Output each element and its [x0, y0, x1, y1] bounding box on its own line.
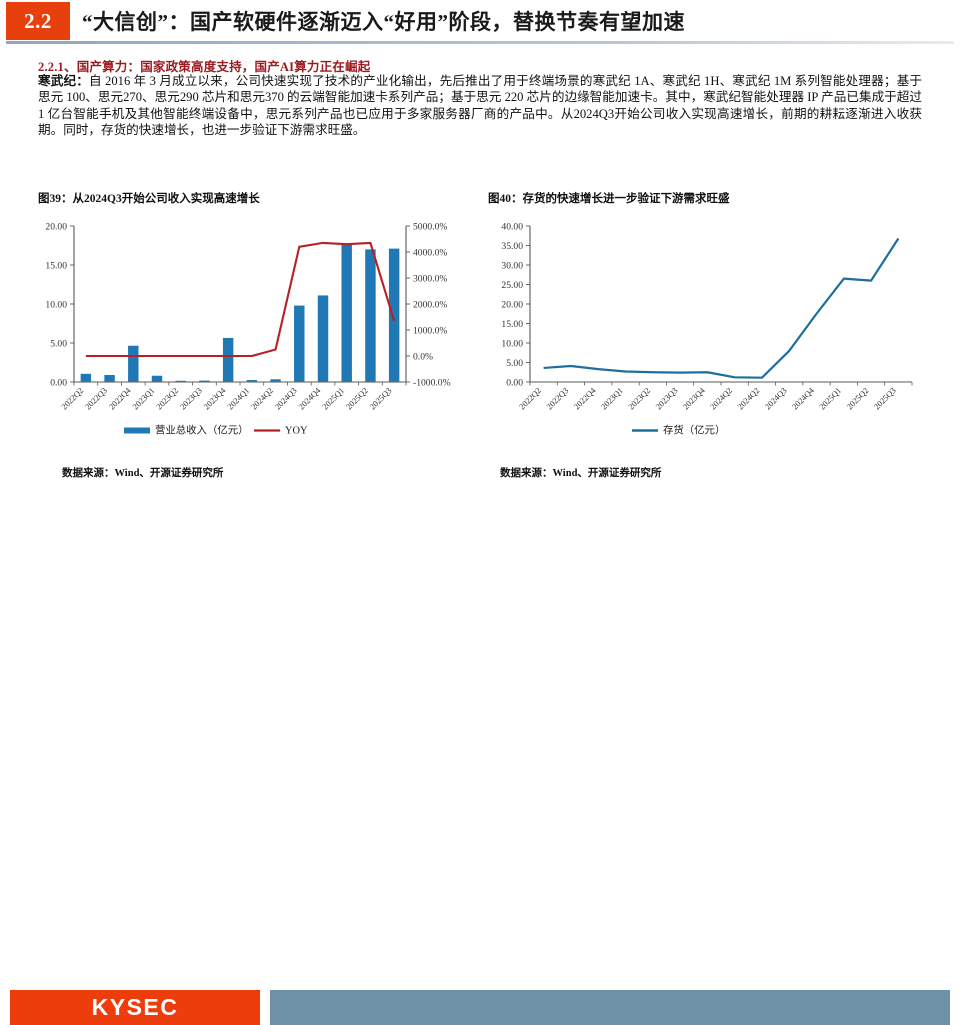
axis-tick-label: 40.00: [501, 221, 523, 232]
axis-tick-label: 5000.0%: [413, 221, 447, 232]
axis-tick-label: 2024Q3: [273, 386, 298, 411]
axis-tick-label: 2023Q4: [681, 385, 707, 411]
axis-tick-label: 35.00: [501, 241, 523, 252]
axis-tick-label: 1000.0%: [413, 325, 447, 336]
bar: [318, 295, 328, 382]
paragraph-body: 自 2016 年 3 月成立以来，公司快速实现了技术的产业化输出，先后推出了用于…: [38, 74, 922, 137]
bar: [199, 381, 209, 382]
bar: [175, 381, 185, 382]
bar: [270, 379, 280, 382]
axis-tick-label: 3000.0%: [413, 273, 447, 284]
axis-tick-label: 10.00: [45, 299, 67, 310]
figure-39-source: 数据来源：Wind、开源证券研究所: [62, 465, 223, 480]
axis-tick-label: 2023Q1: [599, 386, 624, 411]
axis-tick-label: 2022Q4: [572, 385, 598, 411]
page-title: “大信创”：国产软硬件逐渐迈入“好用”阶段，替换节奏有望加速: [82, 4, 952, 38]
bar: [128, 346, 138, 382]
bar: [389, 249, 399, 382]
axis-tick-label: 2025Q3: [368, 386, 393, 411]
paragraph-lead: 寒武纪：: [38, 74, 89, 88]
axis-tick-label: 20.00: [501, 299, 523, 310]
axis-tick-label: 5.00: [50, 338, 67, 349]
axis-tick-label: 2025Q1: [321, 386, 346, 411]
axis-tick-label: 2022Q3: [545, 386, 570, 411]
inventory-line: [544, 238, 899, 377]
axis-tick-label: 2023Q3: [178, 386, 203, 411]
axis-tick-label: 2022Q2: [60, 386, 85, 411]
axis-tick-label: 2024Q4: [790, 385, 816, 411]
axis-tick-label: 2023Q2: [627, 386, 652, 411]
legend-swatch-revenue: [124, 428, 150, 434]
axis-tick-label: 4000.0%: [413, 247, 447, 258]
axis-tick-label: 2024Q3: [763, 386, 788, 411]
bar: [152, 376, 162, 382]
axis-tick-label: 2025Q2: [344, 386, 369, 411]
bar: [294, 306, 304, 382]
section-number-badge: 2.2: [6, 2, 70, 40]
legend-label-inventory: 存货（亿元）: [663, 424, 725, 437]
axis-tick-label: 0.00: [50, 377, 67, 388]
slide-header: 2.2 “大信创”：国产软硬件逐渐迈入“好用”阶段，替换节奏有望加速: [0, 0, 960, 44]
axis-tick-label: 2024Q2: [250, 386, 275, 411]
slide-footer: KYSEC: [0, 493, 960, 540]
axis-tick-label: 30.00: [501, 260, 523, 271]
axis-tick-label: 2023Q2: [155, 386, 180, 411]
axis-tick-label: 2025Q3: [872, 386, 897, 411]
bar: [247, 380, 257, 382]
figure-39-title: 图39：从2024Q3开始公司收入实现高速增长: [38, 190, 260, 206]
bar: [81, 374, 91, 382]
body-paragraph: 寒武纪：自 2016 年 3 月成立以来，公司快速实现了技术的产业化输出，先后推…: [38, 73, 922, 139]
legend-label-yoy: YOY: [285, 426, 308, 437]
bar: [223, 338, 233, 382]
axis-tick-label: 2025Q2: [845, 386, 870, 411]
bar: [365, 249, 375, 382]
axis-tick-label: 2022Q3: [84, 386, 109, 411]
axis-tick-label: 2024Q1: [226, 386, 251, 411]
axis-tick-label: 2000.0%: [413, 299, 447, 310]
axis-tick-label: 5.00: [506, 358, 523, 369]
axis-tick-label: 2022Q2: [518, 386, 543, 411]
axis-tick-label: 15.00: [45, 260, 67, 271]
axis-tick-label: 0.00: [506, 377, 523, 388]
axis-tick-label: 2023Q1: [131, 386, 156, 411]
axis-tick-label: 2024Q2: [736, 386, 761, 411]
axis-tick-label: 0.0%: [413, 351, 433, 362]
inventory-line-chart: 0.005.0010.0015.0020.0025.0030.0035.0040…: [482, 212, 934, 444]
chart-40-canvas: 0.005.0010.0015.0020.0025.0030.0035.0040…: [482, 212, 934, 444]
bar: [341, 245, 351, 382]
revenue-bar-line-chart: 0.005.0010.0015.0020.00-1000.0%0.0%1000.…: [28, 212, 464, 444]
axis-tick-label: 2023Q3: [654, 386, 679, 411]
figure-40-title: 图40：存货的快速增长进一步验证下游需求旺盛: [488, 190, 730, 206]
figure-40-source: 数据来源：Wind、开源证券研究所: [500, 465, 661, 480]
kysec-logo: KYSEC: [10, 990, 260, 1025]
footer-accent-bar: [270, 990, 950, 1025]
axis-tick-label: 2025Q1: [818, 386, 843, 411]
header-divider: [6, 41, 954, 44]
bar: [104, 375, 114, 382]
axis-tick-label: 15.00: [501, 319, 523, 330]
axis-tick-label: 2023Q4: [202, 385, 228, 411]
axis-tick-label: 2024Q2: [709, 386, 734, 411]
chart-39-canvas: 0.005.0010.0015.0020.00-1000.0%0.0%1000.…: [28, 212, 464, 444]
axis-tick-label: 25.00: [501, 280, 523, 291]
axis-tick-label: -1000.0%: [413, 377, 451, 388]
axis-tick-label: 2024Q4: [297, 385, 323, 411]
axis-tick-label: 20.00: [45, 221, 67, 232]
axis-tick-label: 2022Q4: [107, 385, 133, 411]
axis-tick-label: 10.00: [501, 338, 523, 349]
legend-label-revenue: 营业总收入（亿元）: [155, 424, 249, 437]
